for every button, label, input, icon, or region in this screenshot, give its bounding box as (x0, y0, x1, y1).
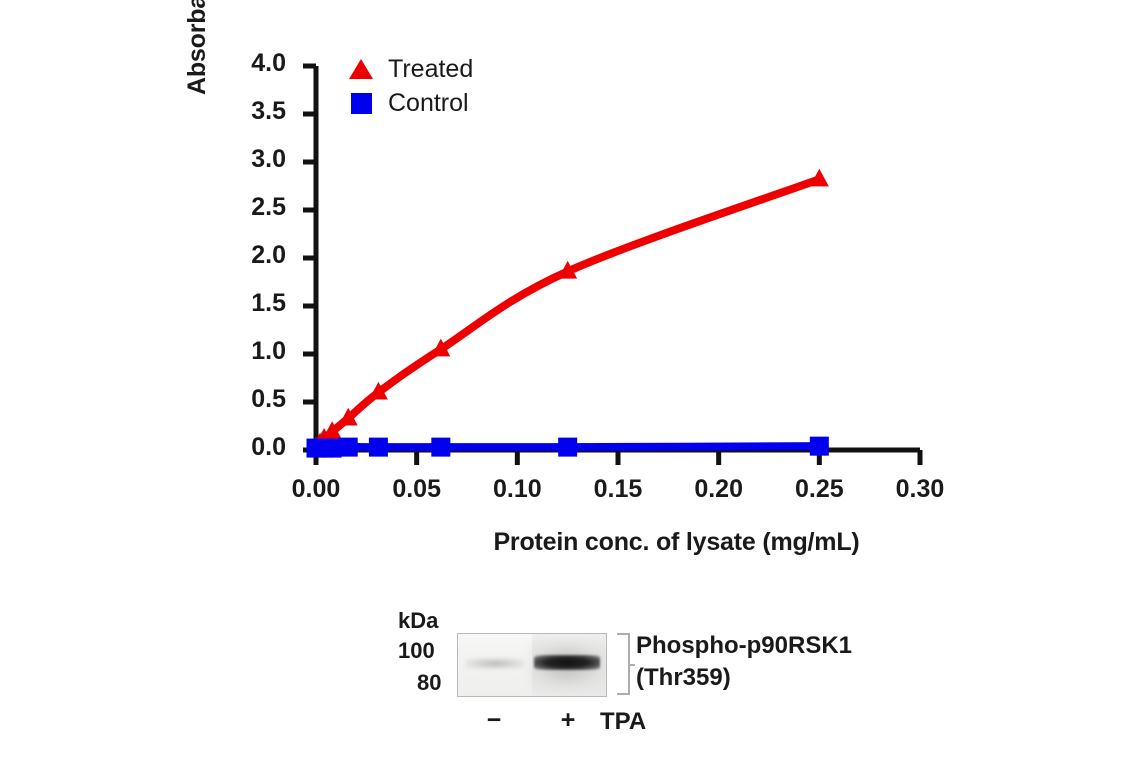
x-tick-label: 0.00 (261, 475, 371, 504)
mw-marker-80: 80 (417, 670, 441, 696)
y-tick-label: 0.0 (216, 433, 286, 462)
blot-band-strong (534, 655, 600, 670)
triangle-marker-icon (348, 59, 374, 79)
y-tick-label: 4.0 (216, 49, 286, 78)
legend-label-control: Control (388, 89, 469, 118)
blot-target-line-1: Phospho-p90RSK1 (636, 630, 852, 662)
y-tick-label: 2.0 (216, 241, 286, 270)
x-axis-title: Protein conc. of lysate (mg/mL) (0, 528, 1141, 557)
x-axis-title-text: Protein conc. of lysate (mg/mL) (493, 528, 859, 557)
blot-bracket (617, 633, 630, 695)
kda-header: kDa (398, 608, 438, 634)
x-tick-label: 0.30 (865, 475, 975, 504)
blot-target-line-2: (Thr359) (636, 662, 852, 694)
y-tick-label: 3.5 (216, 97, 286, 126)
y-tick-label: 3.0 (216, 145, 286, 174)
chart-series (307, 169, 829, 458)
blot-band-faint (466, 658, 524, 669)
x-tick-label: 0.05 (362, 475, 472, 504)
chart-axes (303, 66, 920, 465)
square-marker-icon (348, 93, 374, 114)
lane-sign-positive: + (548, 706, 588, 735)
y-tick-label: 2.5 (216, 193, 286, 222)
chart-legend: Treated Control (348, 52, 473, 120)
x-tick-label: 0.20 (664, 475, 774, 504)
y-axis-title-main: Absorbance (183, 0, 211, 95)
treatment-label: TPA (600, 708, 646, 736)
y-tick-label: 0.5 (216, 385, 286, 414)
legend-item-treated: Treated (348, 52, 473, 86)
absorbance-chart: 0.00.51.01.52.02.53.03.54.0 0.000.050.10… (0, 0, 1141, 580)
x-tick-label: 0.15 (563, 475, 673, 504)
x-tick-label: 0.25 (764, 475, 874, 504)
y-axis-title: Absorbance450nm (183, 0, 212, 95)
lane-sign-negative: − (474, 706, 514, 735)
y-tick-label: 1.5 (216, 289, 286, 318)
western-blot-panel: kDa 100 80 Phospho-p90RSK1 (Thr359) − + … (0, 600, 1141, 768)
mw-marker-100: 100 (398, 638, 435, 664)
blot-target-label: Phospho-p90RSK1 (Thr359) (636, 630, 852, 693)
legend-label-treated: Treated (388, 55, 473, 84)
legend-item-control: Control (348, 86, 473, 120)
x-tick-label: 0.10 (462, 475, 572, 504)
y-tick-label: 1.0 (216, 337, 286, 366)
figure-panel: 0.00.51.01.52.02.53.03.54.0 0.000.050.10… (0, 0, 1141, 768)
blot-image (457, 633, 607, 697)
